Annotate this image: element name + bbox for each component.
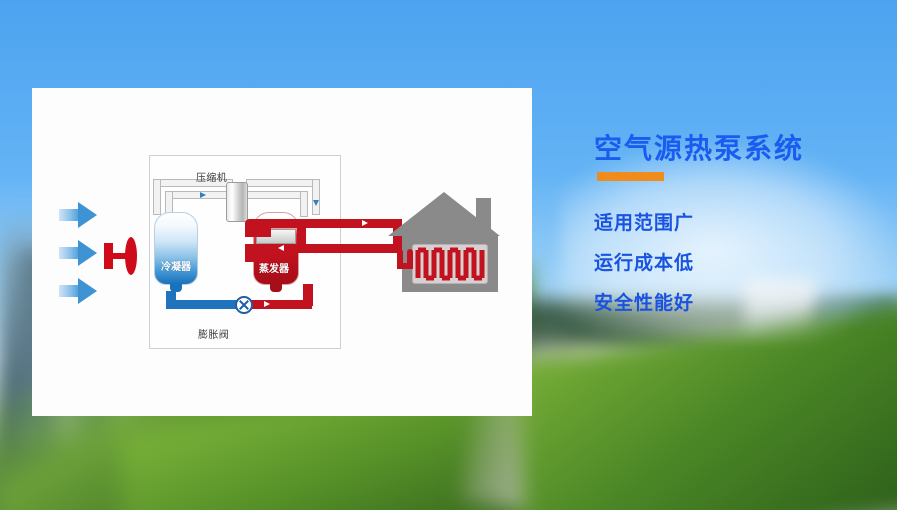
diagram-card: 冷凝器 蒸发器 压缩机 膨胀阀 — [32, 88, 532, 416]
evap-loop-bend-upper — [245, 228, 271, 237]
feature-item-2: 安全性能好 — [594, 288, 694, 315]
feature-item-1: 运行成本低 — [594, 248, 694, 275]
pipe-left-riser — [153, 179, 161, 215]
pipe-liquid-line — [166, 300, 238, 309]
floor-heating-coil-icon — [380, 192, 520, 292]
arrow-tail — [59, 285, 79, 297]
air-flow-arrow-icon — [59, 202, 97, 228]
flow-arrow-icon — [278, 245, 284, 251]
pipe-compressor-inlet — [165, 191, 227, 199]
arrow-tail — [59, 247, 79, 259]
flow-arrow-icon — [313, 200, 319, 206]
expansion-valve-icon — [235, 296, 253, 314]
pipe-right-riser — [312, 179, 320, 215]
arrow-head — [78, 278, 97, 304]
slide-canvas: 冷凝器 蒸发器 压缩机 膨胀阀 — [0, 0, 897, 510]
condenser-label: 冷凝器 — [161, 258, 191, 273]
flow-arrow-icon — [362, 220, 368, 226]
page-title: 空气源热泵系统 — [594, 127, 804, 167]
flow-arrow-icon — [264, 301, 270, 307]
air-flow-arrow-icon — [59, 278, 97, 304]
pipe-evaporator-down — [303, 284, 313, 306]
pipe-upper-right — [246, 179, 320, 187]
house-icon — [380, 192, 520, 292]
arrow-tail — [59, 209, 79, 221]
compressor-label: 压缩机 — [196, 169, 227, 184]
condenser-tank — [154, 212, 198, 285]
flow-arrow-icon — [200, 192, 206, 198]
fan-blade — [125, 237, 137, 275]
evaporator-label: 蒸发器 — [259, 260, 289, 275]
air-flow-arrow-icon — [59, 240, 97, 266]
pipe-compressor-outlet — [246, 191, 308, 199]
arrow-head — [78, 202, 97, 228]
title-accent-bar — [597, 172, 664, 181]
evap-loop-bend-lower — [245, 253, 269, 262]
expansion-valve-label: 膨胀阀 — [198, 326, 229, 341]
arrow-head — [78, 240, 97, 266]
feature-item-0: 适用范围广 — [594, 208, 694, 235]
pipe-right-drop — [300, 191, 308, 217]
compressor-body — [226, 182, 248, 222]
heat-pump-diagram: 冷凝器 蒸发器 压缩机 膨胀阀 — [32, 88, 532, 416]
evaporator-outlet — [270, 284, 282, 292]
